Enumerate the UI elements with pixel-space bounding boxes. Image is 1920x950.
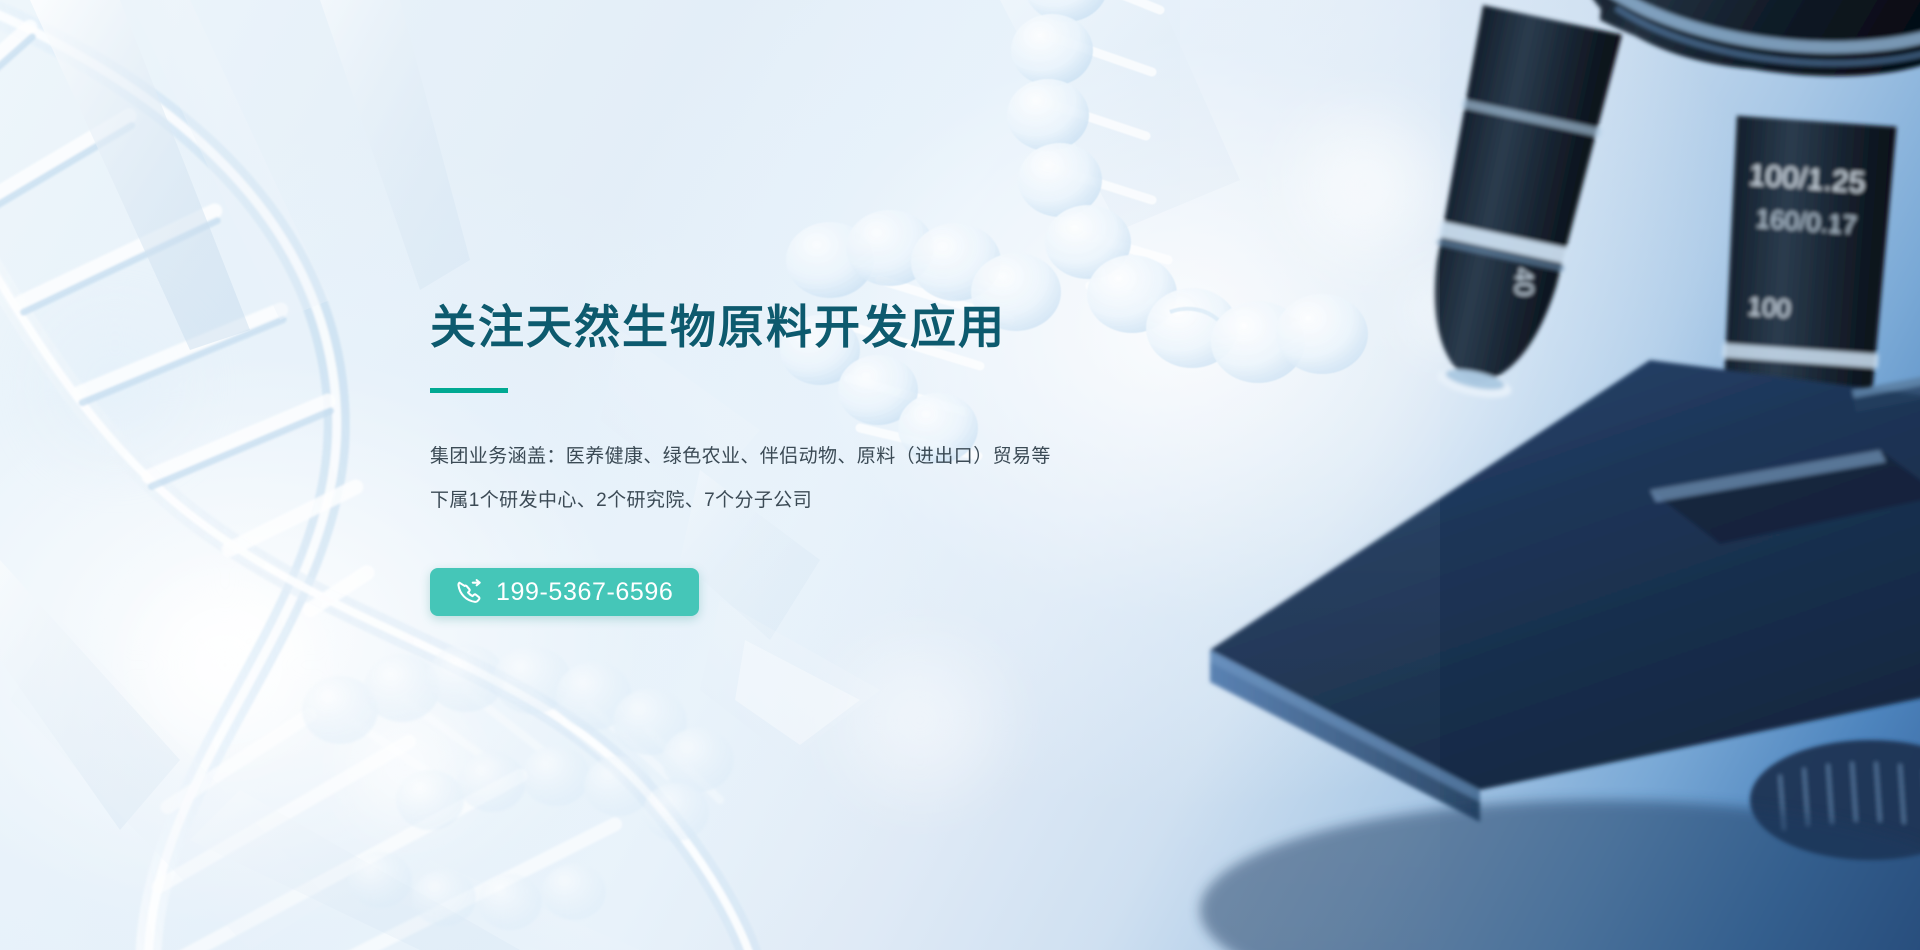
- bokeh-light: [120, 560, 330, 770]
- svg-text:40: 40: [1509, 267, 1539, 296]
- bokeh-light: [1380, 250, 1500, 370]
- hero-content: 关注天然生物原料开发应用 集团业务涵盖：医养健康、绿色农业、伴侣动物、原料（进出…: [430, 300, 1330, 616]
- svg-text:100: 100: [1747, 291, 1792, 324]
- bokeh-light: [30, 300, 200, 470]
- bokeh-light: [790, 620, 1050, 820]
- bead-dna-helix-lower: [230, 630, 1010, 950]
- accent-divider: [430, 388, 508, 393]
- bokeh-light: [330, 690, 480, 840]
- hero-description: 集团业务涵盖：医养健康、绿色农业、伴侣动物、原料（进出口）贸易等 下属1个研发中…: [430, 435, 1330, 523]
- page-title: 关注天然生物原料开发应用: [430, 300, 1330, 355]
- phone-forwarded-icon: [456, 579, 482, 605]
- svg-text:100/1.25: 100/1.25: [1748, 159, 1867, 200]
- bokeh-light: [1270, 90, 1460, 280]
- description-line-1: 集团业务涵盖：医养健康、绿色农业、伴侣动物、原料（进出口）贸易等: [430, 435, 1330, 479]
- phone-number: 199-5367-6596: [496, 580, 673, 605]
- hero-banner: 40 100/1.25 160/0.17 100: [0, 0, 1920, 950]
- phone-contact-button[interactable]: 199-5367-6596: [430, 568, 699, 616]
- description-line-2: 下属1个研发中心、2个研究院、7个分子公司: [430, 479, 1330, 523]
- svg-text:160/0.17: 160/0.17: [1755, 203, 1858, 240]
